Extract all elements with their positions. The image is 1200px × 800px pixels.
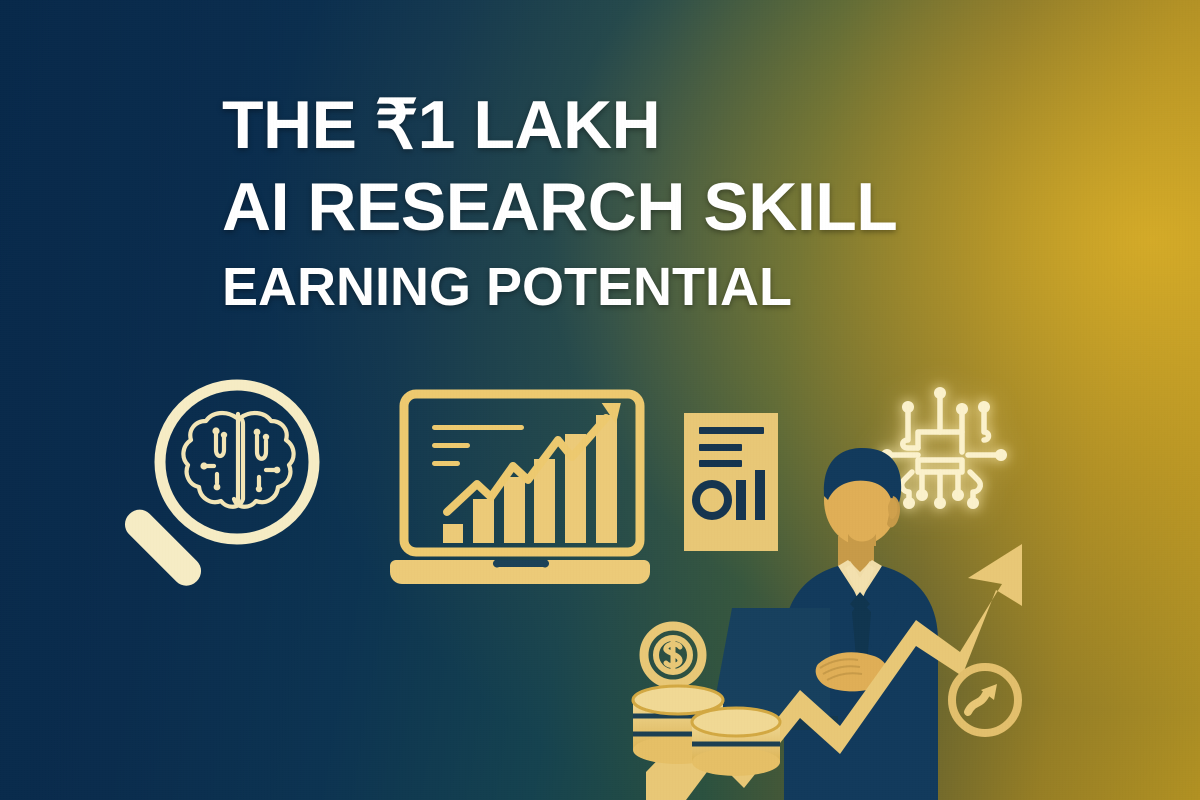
magnifier-brain-icon bbox=[119, 385, 314, 592]
headline-line-2: AI RESEARCH SKILL bbox=[222, 166, 1122, 248]
laptop-growth-chart-icon bbox=[390, 394, 650, 584]
brain-icon bbox=[183, 413, 293, 507]
coin-stack-short bbox=[692, 708, 780, 776]
trend-badge-icon bbox=[952, 667, 1018, 733]
headline-line-1: THE ₹1 LAKH bbox=[222, 84, 1122, 166]
report-document-icon bbox=[684, 413, 778, 551]
poster-canvas: THE ₹1 LAKH AI RESEARCH SKILL EARNING PO… bbox=[0, 0, 1200, 800]
headline-line-3: EARNING POTENTIAL bbox=[222, 254, 1122, 320]
headline-block: THE ₹1 LAKH AI RESEARCH SKILL EARNING PO… bbox=[222, 84, 1122, 320]
